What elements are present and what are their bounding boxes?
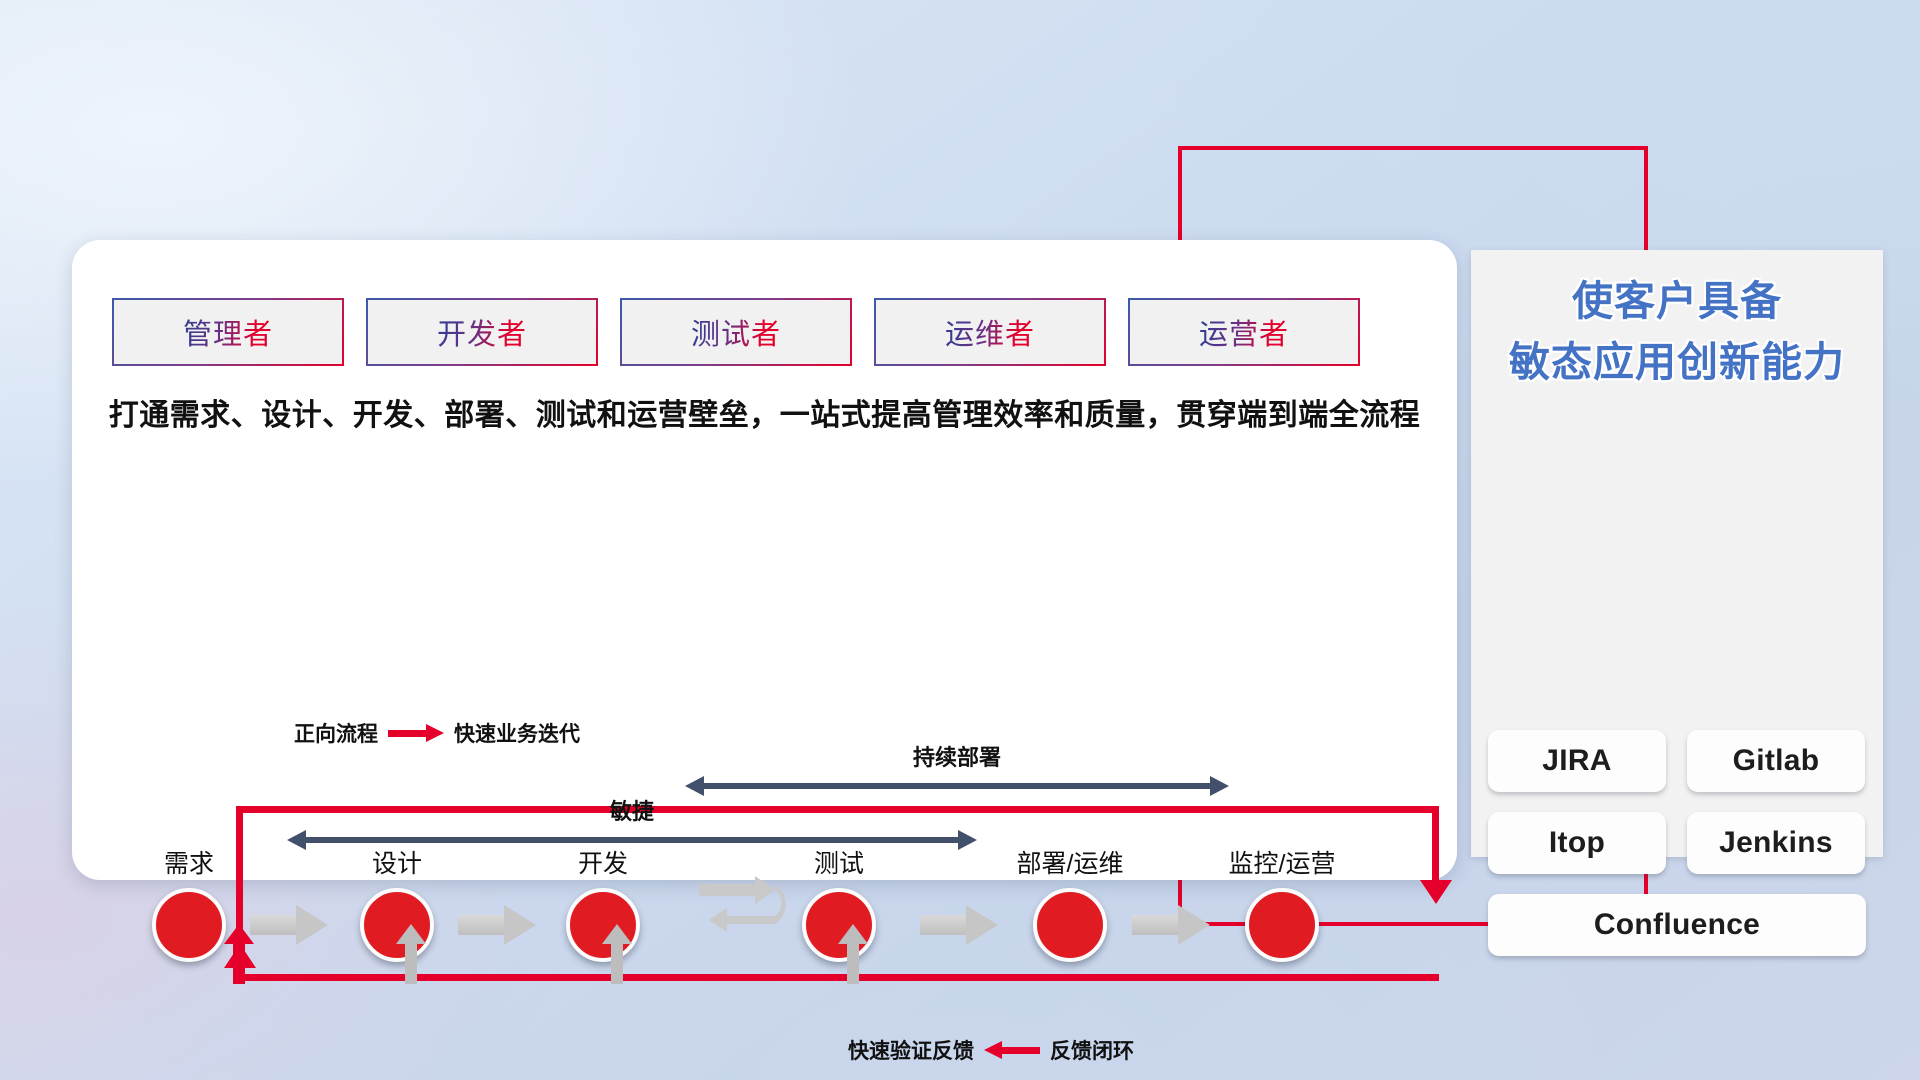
tool-gitlab[interactable]: Gitlab [1687, 730, 1865, 792]
panel-title-line1: 使客户具备 [1471, 277, 1883, 325]
stage-requirement-label: 需求 [134, 844, 244, 880]
tool-jira[interactable]: JIRA [1488, 730, 1666, 792]
connector-arrow-4-icon [1132, 905, 1210, 945]
arrow-head-right-icon [296, 905, 328, 945]
arrow-left-red-icon [984, 1044, 1040, 1056]
main-card: 管理者 开发者 测试者 运维者 运营者 [72, 240, 1457, 880]
arrow-shaft [405, 940, 417, 984]
tool-row-2: Itop Jenkins [1488, 812, 1866, 874]
panel-title-line2: 敏态应用创新能力 [1471, 338, 1883, 386]
feedback-up-arrow-requirement-icon [224, 924, 254, 982]
feedback-up-arrow-design-icon [396, 924, 426, 982]
arrow-shaft [847, 940, 859, 984]
connector-arrow-1-icon [250, 905, 328, 945]
iteration-uturn-icon [697, 870, 789, 936]
tool-confluence[interactable]: Confluence [1488, 894, 1866, 956]
stage-test-label: 测试 [784, 844, 894, 880]
arrow-head-right-icon [1178, 905, 1210, 945]
pipeline: 需求 设计 开发 测试 部署/运维 监控/运营 [72, 240, 1457, 880]
bracket-top-edge [1178, 146, 1648, 150]
arrow-shaft [611, 940, 623, 984]
stage-design-label: 设计 [342, 844, 452, 880]
legend-feedback-right-label: 反馈闭环 [1050, 1035, 1134, 1065]
arrow-shaft [1132, 915, 1184, 935]
arrow-shaft [250, 915, 302, 935]
tool-itop[interactable]: Itop [1488, 812, 1666, 874]
feedback-up-arrow-test-icon [838, 924, 868, 982]
stage-monitor-operate-node[interactable] [1245, 888, 1319, 962]
tool-row-1: JIRA Gitlab [1488, 730, 1866, 792]
stage-requirement-node[interactable] [152, 888, 226, 962]
red-loop-arrow-down-icon [1420, 880, 1452, 904]
stage-monitor-operate-label: 监控/运营 [1192, 844, 1372, 880]
legend-feedback-left-label: 快速验证反馈 [848, 1035, 974, 1065]
stage-deploy-ops-label: 部署/运维 [980, 844, 1160, 880]
arrow-head-right-icon [504, 905, 536, 945]
connector-arrow-2-icon [458, 905, 536, 945]
tool-jenkins[interactable]: Jenkins [1687, 812, 1865, 874]
feedback-up-arrow-develop-icon [602, 924, 632, 982]
capability-panel: 使客户具备 敏态应用创新能力 JIRA Gitlab Itop Jenkins … [1471, 250, 1883, 857]
tool-grid: JIRA Gitlab Itop Jenkins Confluence [1488, 730, 1866, 976]
stage-develop-label: 开发 [548, 844, 658, 880]
legend-feedback-loop: 快速验证反馈 反馈闭环 [848, 1035, 1134, 1065]
arrow-shaft [233, 940, 245, 984]
arrow-head-right-icon [966, 905, 998, 945]
arrow-shaft [458, 915, 510, 935]
arrow-shaft [920, 915, 972, 935]
stage-deploy-ops-node[interactable] [1033, 888, 1107, 962]
connector-arrow-3-icon [920, 905, 998, 945]
tool-row-3: Confluence [1488, 894, 1866, 956]
slide-canvas: 使客户具备 敏态应用创新能力 JIRA Gitlab Itop Jenkins … [0, 0, 1920, 1080]
